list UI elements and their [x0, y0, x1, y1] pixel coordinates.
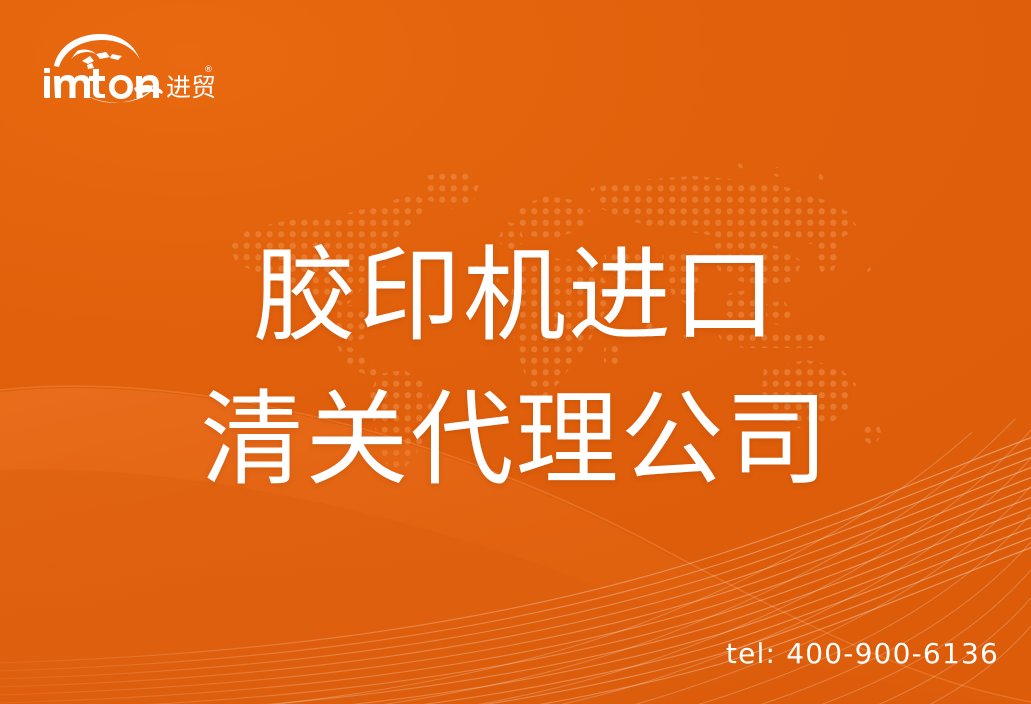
promo-banner: 进贸通 ® 胶印机进口 清关代理公司 tel: 400-900-6136	[0, 0, 1031, 704]
company-logo[interactable]: 进贸通 ®	[38, 30, 214, 108]
contact-phone[interactable]: tel: 400-900-6136	[726, 637, 999, 670]
headline: 胶印机进口 清关代理公司	[0, 236, 1031, 501]
headline-line-1: 胶印机进口	[0, 236, 1031, 358]
logo-chinese-name: 进贸通	[166, 73, 214, 102]
logo-wordmark	[44, 68, 159, 99]
logo-trademark-icon: ®	[204, 65, 213, 75]
headline-line-2: 清关代理公司	[0, 380, 1031, 502]
